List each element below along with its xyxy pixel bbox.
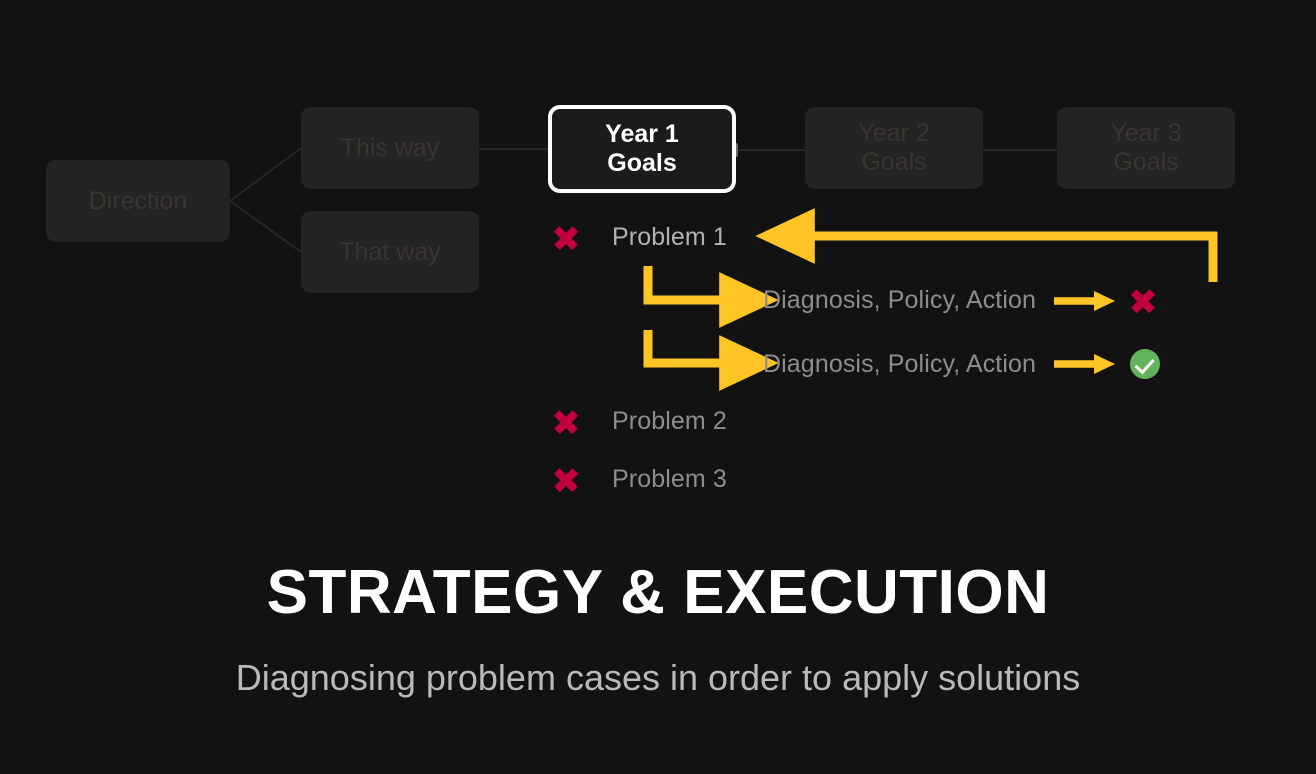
x-mark-icon [553,467,579,493]
attempt-row-1[interactable]: Diagnosis, Policy, Action [763,286,1156,315]
slide-title: STRATEGY & EXECUTION [0,557,1316,628]
arrow-right-icon [1054,353,1116,375]
node-that-way[interactable]: That way [301,211,479,293]
attempt-row-2[interactable]: Diagnosis, Policy, Action [763,349,1160,379]
slide-canvas: Direction This way That way Year 1 Goals… [0,0,1316,774]
elbow-arrow-icon-2 [648,330,748,363]
attempt-label: Diagnosis, Policy, Action [763,286,1036,315]
problem-row-3[interactable]: Problem 3 [553,465,727,494]
slide-subtitle: Diagnosing problem cases in order to app… [0,657,1316,699]
node-year-3-goals[interactable]: Year 3 Goals [1057,107,1235,189]
x-mark-icon [1130,288,1156,314]
problem-label: Problem 2 [612,407,727,436]
feedback-loop-arrow-icon [786,236,1213,282]
x-mark-icon [553,225,579,251]
x-mark-icon [553,409,579,435]
arrow-right-icon [1054,290,1116,312]
check-circle-icon [1130,349,1160,379]
elbow-arrow-icon-1 [648,266,748,300]
attempt-label: Diagnosis, Policy, Action [763,350,1036,379]
problem-row-1[interactable]: Problem 1 [553,223,727,252]
problem-label: Problem 1 [612,223,727,252]
node-year-1-goals[interactable]: Year 1 Goals [548,105,736,193]
node-direction[interactable]: Direction [46,160,230,242]
problem-row-2[interactable]: Problem 2 [553,407,727,436]
node-year-2-goals[interactable]: Year 2 Goals [805,107,983,189]
problem-label: Problem 3 [612,465,727,494]
node-this-way[interactable]: This way [301,107,479,189]
